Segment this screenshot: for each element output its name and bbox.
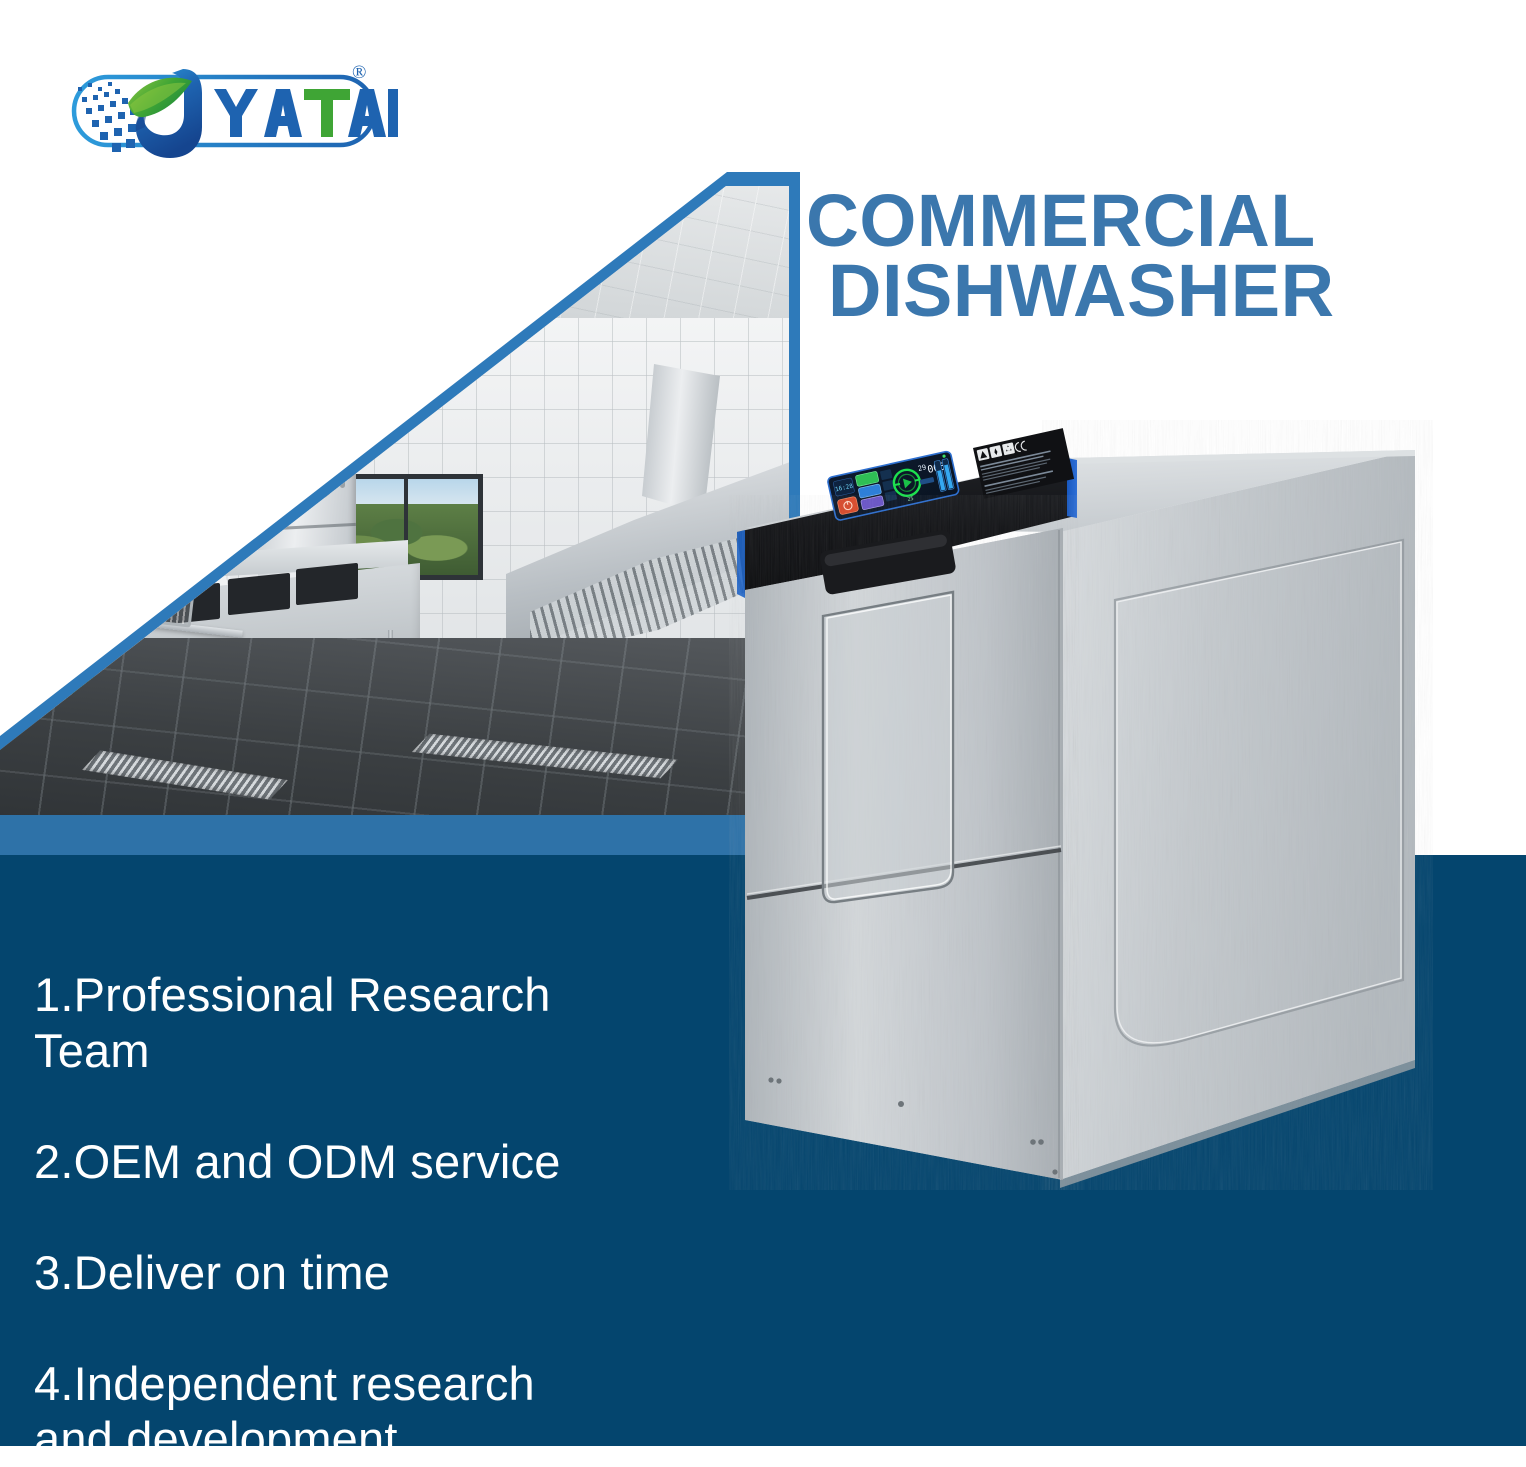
registered-trademark-symbol: ®	[352, 62, 366, 84]
feature-3-text: 3.Deliver on time	[34, 1246, 390, 1299]
poster-canvas: 16:28	[0, 0, 1526, 1446]
feature-item-2: 2.OEM and ODM service	[34, 1078, 714, 1189]
svg-text:25: 25	[907, 496, 914, 503]
feature-item-3: 3.Deliver on time	[34, 1189, 714, 1300]
title-line-1: COMMERCIAL	[806, 186, 1499, 256]
feature-list: 1.Professional Research Team 2.OEM and O…	[34, 912, 714, 1467]
feature-item-4: 4.Independent research and development	[34, 1300, 714, 1466]
door-recess-panel	[823, 592, 953, 902]
feature-item-1: 1.Professional Research Team	[34, 912, 714, 1078]
kitchen-photo	[0, 168, 820, 820]
product-side-panel	[1060, 450, 1415, 1180]
product-image-dishwasher: 16:28	[715, 420, 1445, 1190]
feature-2-text: 2.OEM and ODM service	[34, 1135, 561, 1188]
title-line-2: DISHWASHER	[828, 256, 1506, 326]
feature-1-text: 1.Professional Research Team	[34, 968, 551, 1076]
feature-4-text: 4.Independent research and development	[34, 1357, 535, 1465]
page-title: COMMERCIAL DISHWASHER	[806, 186, 1506, 325]
logo-leaf-icon	[128, 78, 192, 117]
brand-logo[interactable]	[68, 55, 398, 170]
